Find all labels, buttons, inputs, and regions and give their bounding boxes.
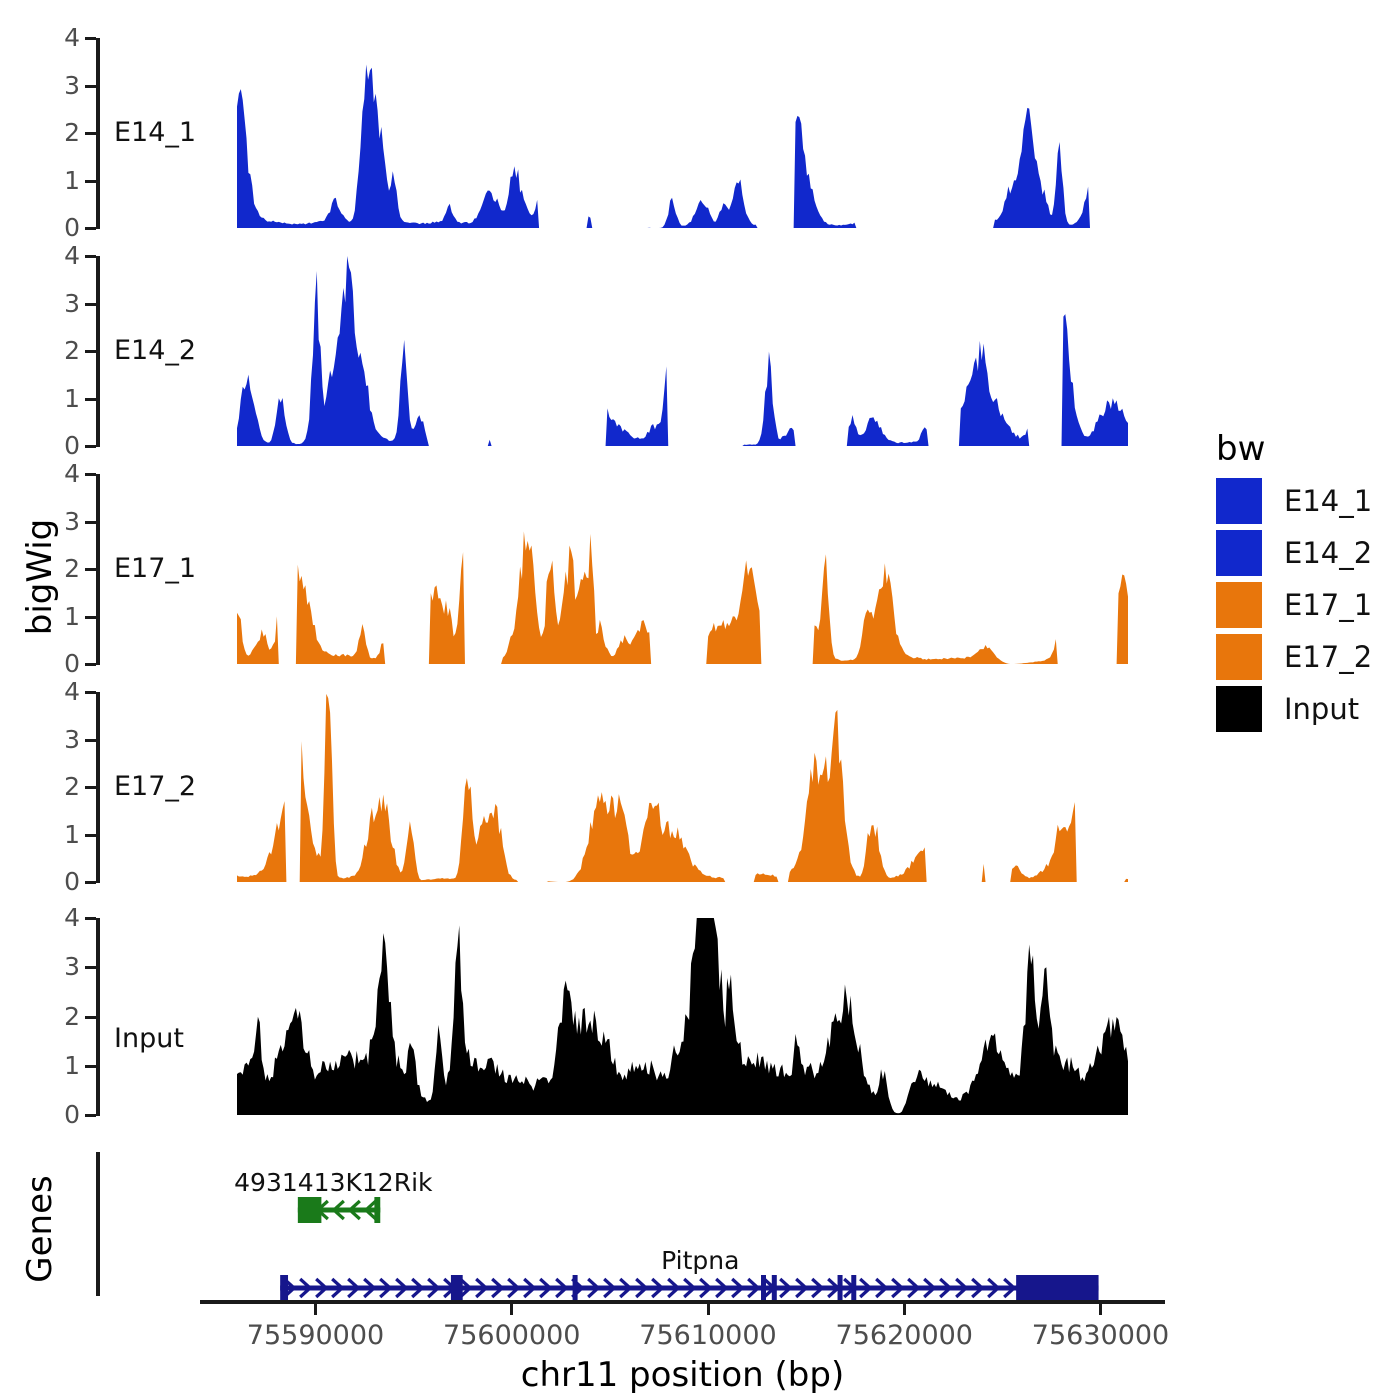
track-label-e17_2: E17_2 <box>114 773 196 800</box>
gene-exon-block <box>1016 1275 1098 1301</box>
y-tick-label: 4 <box>30 243 80 268</box>
x-tick-mark <box>314 1304 317 1315</box>
legend-swatch-e14_2 <box>1216 530 1262 576</box>
gene-label-4931413k12rik: 4931413K12Rik <box>234 1170 432 1195</box>
y-tick-mark <box>85 739 96 742</box>
y-tick-mark <box>85 445 96 448</box>
y-tick-label: 4 <box>30 905 80 930</box>
y-tick-label: 3 <box>30 509 80 534</box>
y-tick-label: 1 <box>30 604 80 629</box>
y-tick-mark <box>85 255 96 258</box>
legend-label: E14_1 <box>1284 487 1372 516</box>
track-e14_1-y-spine <box>96 38 100 229</box>
y-tick-label: 0 <box>30 869 80 894</box>
y-tick-label: 0 <box>30 651 80 676</box>
y-tick-label: 2 <box>30 1004 80 1029</box>
y-tick-label: 0 <box>30 215 80 240</box>
legend-label: E14_2 <box>1284 539 1372 568</box>
y-tick-label: 2 <box>30 556 80 581</box>
gene-exon-block <box>298 1197 322 1223</box>
y-tick-mark <box>85 966 96 969</box>
y-tick-label: 3 <box>30 73 80 98</box>
y-tick-mark <box>85 398 96 401</box>
x-tick-label: 75600000 <box>402 1322 622 1349</box>
y-tick-mark <box>85 917 96 920</box>
y-tick-label: 2 <box>30 774 80 799</box>
legend-item-e14_2[interactable]: E14_2 <box>1216 530 1372 576</box>
gene-exon-block <box>761 1275 766 1301</box>
y-tick-label: 2 <box>30 338 80 363</box>
x-tick-mark <box>707 1304 710 1315</box>
track-signal-e14_2 <box>237 256 1130 448</box>
y-tick-label: 0 <box>30 433 80 458</box>
x-axis-title: chr11 position (bp) <box>383 1358 983 1392</box>
x-tick-label: 75610000 <box>598 1322 818 1349</box>
gene-models <box>0 1152 1400 1304</box>
legend-item-e14_1[interactable]: E14_1 <box>1216 478 1372 524</box>
legend-label: Input <box>1284 695 1359 724</box>
track-signal-input <box>237 918 1130 1117</box>
y-tick-label: 1 <box>30 1053 80 1078</box>
y-tick-mark <box>85 180 96 183</box>
y-tick-mark <box>85 473 96 476</box>
legend-label: E17_2 <box>1284 643 1372 672</box>
gene-exon-block <box>838 1275 843 1301</box>
track-label-e14_2: E14_2 <box>114 337 196 364</box>
gene-label-pitpna: Pitpna <box>661 1248 739 1273</box>
y-tick-label: 4 <box>30 679 80 704</box>
y-tick-mark <box>85 616 96 619</box>
legend-swatch-e17_2 <box>1216 634 1262 680</box>
x-tick-mark <box>1099 1304 1102 1315</box>
x-tick-mark <box>903 1304 906 1315</box>
legend-swatch-e17_1 <box>1216 582 1262 628</box>
track-signal-e17_2 <box>237 692 1130 884</box>
y-tick-label: 4 <box>30 461 80 486</box>
y-tick-mark <box>85 37 96 40</box>
y-tick-label: 1 <box>30 386 80 411</box>
y-tick-label: 3 <box>30 291 80 316</box>
figure-canvas: bigWig Genes chr11 position (bp) 01234E1… <box>0 0 1400 1400</box>
x-tick-label: 75590000 <box>206 1322 426 1349</box>
y-tick-mark <box>85 568 96 571</box>
y-tick-label: 0 <box>30 1102 80 1127</box>
y-tick-mark <box>85 881 96 884</box>
y-tick-mark <box>85 521 96 524</box>
x-axis-spine <box>200 1300 1165 1304</box>
y-tick-mark <box>85 1065 96 1068</box>
legend-title: bw <box>1216 432 1265 466</box>
y-tick-mark <box>85 227 96 230</box>
y-tick-label: 3 <box>30 727 80 752</box>
track-signal-e14_1 <box>237 38 1130 230</box>
y-tick-label: 1 <box>30 168 80 193</box>
y-tick-mark <box>85 1016 96 1019</box>
y-tick-mark <box>85 663 96 666</box>
gene-exon-block <box>573 1275 578 1301</box>
legend-label: E17_1 <box>1284 591 1372 620</box>
track-label-e14_1: E14_1 <box>114 119 196 146</box>
y-tick-mark <box>85 1114 96 1117</box>
track-label-e17_1: E17_1 <box>114 555 196 582</box>
gene-exon-block <box>772 1275 777 1301</box>
legend-item-e17_2[interactable]: E17_2 <box>1216 634 1372 680</box>
gene-exon-block <box>280 1275 288 1301</box>
x-tick-label: 75630000 <box>991 1322 1211 1349</box>
track-e14_2-y-spine <box>96 256 100 447</box>
y-tick-mark <box>85 85 96 88</box>
track-e17_2-y-spine <box>96 692 100 883</box>
gene-exon-block <box>451 1275 463 1301</box>
y-tick-mark <box>85 691 96 694</box>
gene-exon-block <box>374 1197 380 1223</box>
y-tick-label: 3 <box>30 954 80 979</box>
track-label-input: Input <box>114 1025 184 1052</box>
y-tick-label: 2 <box>30 120 80 145</box>
y-tick-mark <box>85 350 96 353</box>
legend-item-input[interactable]: Input <box>1216 686 1359 732</box>
track-e17_1-y-spine <box>96 474 100 665</box>
track-input-y-spine <box>96 918 100 1116</box>
gene-exon-block <box>851 1275 856 1301</box>
y-tick-label: 1 <box>30 822 80 847</box>
legend-swatch-input <box>1216 686 1262 732</box>
legend-swatch-e14_1 <box>1216 478 1262 524</box>
y-tick-mark <box>85 786 96 789</box>
track-signal-e17_1 <box>237 474 1130 666</box>
legend-item-e17_1[interactable]: E17_1 <box>1216 582 1372 628</box>
y-tick-mark <box>85 132 96 135</box>
x-tick-label: 75620000 <box>794 1322 1014 1349</box>
y-tick-mark <box>85 834 96 837</box>
y-tick-label: 4 <box>30 25 80 50</box>
y-tick-mark <box>85 303 96 306</box>
x-tick-mark <box>510 1304 513 1315</box>
